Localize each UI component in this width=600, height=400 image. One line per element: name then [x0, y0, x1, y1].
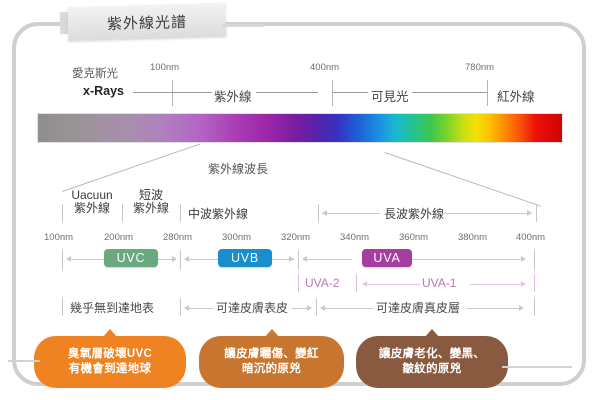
- spectrum-scale: 100nm 400nm 780nm 愛克斯光 x-Rays 紫外線 可見光 紅外…: [0, 62, 600, 108]
- uva-pill[interactable]: UVA: [362, 249, 412, 267]
- callout-uvb-line2: 暗沉的原兇: [242, 362, 301, 377]
- uv-class-row: Uacuun 紫外線 短波 紫外線 中波紫外線 長波紫外線: [0, 188, 600, 228]
- pen-line-a-left: [322, 308, 374, 309]
- class-sep-5: [536, 204, 537, 222]
- scale-label-400nm: 400nm: [310, 62, 339, 73]
- uva1-arrow-left: [362, 281, 367, 287]
- scale-rule-d: [412, 92, 487, 93]
- uv-wavelength-caption: 紫外線波長: [208, 160, 268, 177]
- class-sep-4: [318, 204, 319, 222]
- pen-arrow-a-right: [519, 305, 524, 311]
- uv-nm-scale: 100nm 200nm 280nm 300nm 320nm 340nm 360n…: [0, 232, 600, 246]
- class-sep-3: [180, 204, 181, 222]
- pen-arrow-a-left: [320, 305, 325, 311]
- uva-1-label: UVA-1: [422, 276, 456, 290]
- penetration-row: 幾乎無到達地表 可達皮膚表皮 可達皮膚真皮層: [0, 296, 600, 318]
- band-label-infrared: 紅外線: [497, 86, 535, 105]
- uva-sub-row: UVA-2 UVA-1: [0, 274, 600, 294]
- band-tick-100: [62, 250, 63, 270]
- callout-uvb[interactable]: 讓皮膚曬傷、變紅 暗沉的原兇: [199, 336, 344, 388]
- title-tab-line: [222, 24, 264, 27]
- uva1-line-right: [470, 284, 524, 285]
- pen-tick-4: [534, 298, 535, 316]
- callout-uvc-line1: 臭氧層破壞UVC: [68, 347, 152, 362]
- band-tick-280: [180, 250, 181, 270]
- scale-rule-a: [172, 92, 212, 93]
- uv-class-vacuum-line2: 紫外線: [62, 202, 122, 215]
- uvb-span-arrow-left: [322, 210, 327, 216]
- uva2-tick-right: [356, 274, 357, 292]
- uv-nm-300: 300nm: [222, 232, 251, 243]
- tick-400nm: [332, 80, 333, 106]
- uva1-line-left: [364, 284, 420, 285]
- uv-band-row: UVC UVB UVA: [0, 248, 600, 272]
- uvb-line-left: [186, 259, 218, 260]
- uva-label: UVA: [373, 251, 400, 265]
- band-label-uv: 紫外線: [214, 86, 252, 105]
- uv-nm-400: 400nm: [516, 232, 545, 243]
- pen-tick-3: [316, 298, 317, 316]
- pen-line-a-right: [466, 308, 522, 309]
- pen-line-b-left: [186, 308, 214, 309]
- callout-left-connector: [8, 360, 40, 362]
- callout-uvb-line1: 讓皮膚曬傷、變紅: [224, 347, 318, 362]
- uv-nm-200: 200nm: [104, 232, 133, 243]
- callout-uvc-notch: [102, 329, 118, 338]
- uv-class-uvc: 短波 紫外線: [122, 189, 180, 215]
- callout-uva-notch: [424, 329, 440, 338]
- title-tab: 紫外線光譜: [68, 3, 227, 41]
- tick-780nm: [487, 80, 488, 106]
- uv-class-vacuum: Uacuun 紫外線: [62, 189, 122, 215]
- scale-label-780nm: 780nm: [465, 62, 494, 73]
- penetration-uvb: 可達皮膚表皮: [216, 299, 288, 316]
- pen-tick-2: [180, 298, 181, 316]
- penetration-uvc: 幾乎無到達地表: [70, 299, 154, 316]
- uvc-arrow-right: [172, 256, 177, 262]
- scale-rule-b: [256, 92, 318, 93]
- band-label-xrays-en: x-Rays: [83, 84, 124, 98]
- uva-span-arrow-right: [527, 210, 532, 216]
- pen-arrow-b-left: [184, 305, 189, 311]
- penetration-uva: 可達皮膚真皮層: [376, 299, 460, 316]
- uva-arrow-right: [521, 256, 526, 262]
- uv-class-uvb: 中波紫外線: [188, 205, 248, 222]
- uv-nm-340: 340nm: [340, 232, 369, 243]
- band-tick-320: [298, 250, 299, 270]
- uv-class-uva: 長波紫外線: [384, 205, 444, 222]
- uva-span-line: [440, 213, 530, 214]
- band-label-visible: 可見光: [371, 86, 409, 105]
- scale-label-100nm: 100nm: [150, 62, 179, 73]
- callout-uvc-line2: 有機會到達地球: [69, 362, 152, 377]
- uva2-tick-left: [298, 274, 299, 292]
- callout-uvc[interactable]: 臭氧層破壞UVC 有機會到達地球: [34, 336, 186, 388]
- uvc-arrow-left: [66, 256, 71, 262]
- uva-line-right: [412, 259, 524, 260]
- uvc-pill[interactable]: UVC: [104, 249, 158, 267]
- uvb-arrow-right: [289, 256, 294, 262]
- uvb-span-line: [322, 213, 380, 214]
- callout-uva-line1: 讓皮膚老化、變黑、: [379, 347, 485, 362]
- scale-rule-c: [332, 92, 368, 93]
- uvc-line-left: [68, 259, 104, 260]
- uva-line-left: [304, 259, 352, 260]
- uva1-arrow-right: [521, 281, 526, 287]
- uv-nm-360: 360nm: [399, 232, 428, 243]
- callout-right-connector: [502, 366, 572, 368]
- spectrum-bar: [37, 113, 563, 143]
- uvb-label: UVB: [231, 251, 259, 265]
- callout-uvb-notch: [264, 329, 280, 338]
- callout-uva[interactable]: 讓皮膚老化、變黑、 皺紋的原兇: [356, 336, 508, 388]
- uva1-tick-right: [534, 274, 535, 292]
- uv-class-uvc-line2: 紫外線: [122, 202, 180, 215]
- band-tick-400: [534, 250, 535, 270]
- uv-nm-280: 280nm: [163, 232, 192, 243]
- uvb-arrow-left: [184, 256, 189, 262]
- pen-tick-1: [62, 298, 63, 316]
- uv-nm-100: 100nm: [44, 232, 73, 243]
- uva-arrow-left: [302, 256, 307, 262]
- callout-uva-line2: 皺紋的原兇: [403, 362, 462, 377]
- uvc-label: UVC: [117, 251, 146, 265]
- pen-arrow-b-right: [307, 305, 312, 311]
- band-label-xrays-cn: 愛克斯光: [72, 65, 118, 81]
- tick-100nm: [172, 80, 173, 106]
- uv-nm-320: 320nm: [281, 232, 310, 243]
- uvb-pill[interactable]: UVB: [218, 249, 272, 267]
- page-title: 紫外線光譜: [68, 3, 227, 41]
- uva-2-label: UVA-2: [305, 276, 339, 290]
- uv-nm-380: 380nm: [458, 232, 487, 243]
